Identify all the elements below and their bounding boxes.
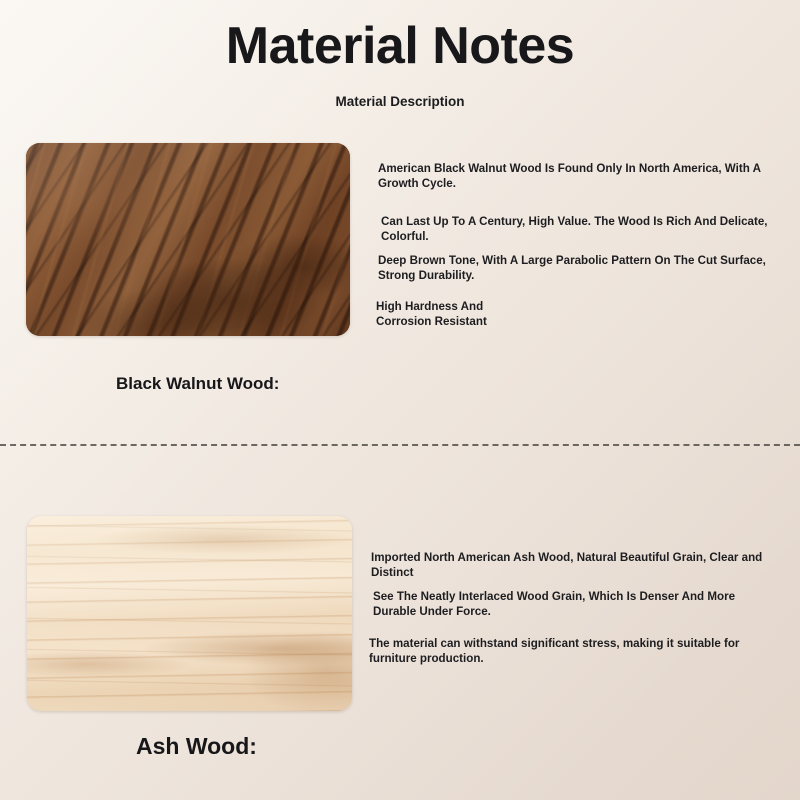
walnut-paragraph-4: High Hardness And Corrosion Resistant bbox=[376, 300, 796, 329]
walnut-paragraph-3: Deep Brown Tone, With A Large Parabolic … bbox=[378, 254, 798, 283]
ash-paragraph-3: The material can withstand significant s… bbox=[369, 637, 794, 666]
section-divider bbox=[0, 444, 800, 446]
black-walnut-caption: Black Walnut Wood: bbox=[116, 374, 279, 394]
ash-caption: Ash Wood: bbox=[136, 733, 257, 760]
ash-sheen-layer bbox=[27, 516, 352, 711]
material-notes-page: Material Notes Material Description Amer… bbox=[0, 0, 800, 800]
page-title: Material Notes bbox=[0, 18, 800, 75]
black-walnut-wood-swatch bbox=[26, 143, 350, 336]
walnut-sheen-layer bbox=[26, 143, 350, 336]
walnut-paragraph-2: Can Last Up To A Century, High Value. Th… bbox=[381, 215, 800, 244]
ash-paragraph-1: Imported North American Ash Wood, Natura… bbox=[371, 551, 799, 580]
ash-wood-swatch bbox=[27, 516, 352, 711]
walnut-paragraph-1: American Black Walnut Wood Is Found Only… bbox=[378, 162, 798, 191]
ash-paragraph-2: See The Neatly Interlaced Wood Grain, Wh… bbox=[373, 590, 798, 619]
page-subtitle: Material Description bbox=[0, 94, 800, 109]
